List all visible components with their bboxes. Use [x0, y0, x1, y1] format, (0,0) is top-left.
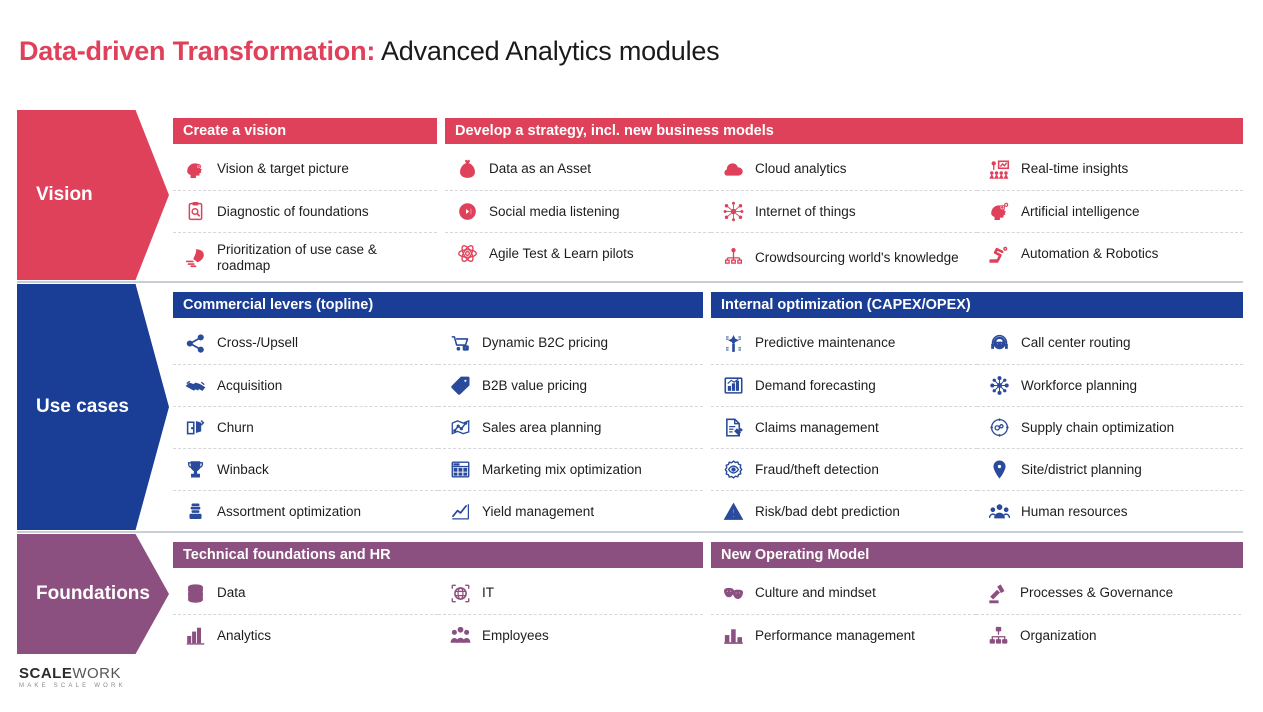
module-item-label: Performance management: [755, 628, 921, 644]
logo-name-light: WORK: [72, 665, 121, 682]
panel-column: ITEmployees: [438, 572, 703, 654]
module-item[interactable]: Analytics: [173, 614, 438, 656]
play-circle-icon: [445, 201, 489, 222]
modules-board: VisionCreate a visionVision & target pic…: [0, 110, 1263, 655]
panel-column: Real-time insightsArtificial intelligenc…: [977, 148, 1243, 280]
panel-column: Cross-/UpsellAcquisitionChurnWinbackAsso…: [173, 322, 438, 530]
band-label-text: Foundations: [36, 583, 150, 605]
svg-text:$: $: [465, 168, 469, 175]
module-item[interactable]: Crowdsourcing world's knowledge: [711, 232, 977, 282]
share-nodes-icon: [173, 333, 217, 354]
page-title-accent: Data-driven Transformation:: [19, 36, 375, 66]
module-item-label: Claims management: [755, 420, 885, 436]
performance-bars-icon: [711, 625, 755, 646]
sales-area-map-icon: [438, 417, 482, 438]
panel-column: Predictive maintenanceDemand forecasting…: [711, 322, 977, 530]
logo-name-bold: SCALE: [19, 665, 72, 682]
module-item[interactable]: Prioritization of use case & roadmap: [173, 232, 437, 282]
module-item-label: Cloud analytics: [755, 161, 853, 177]
module-item[interactable]: Processes & Governance: [976, 572, 1241, 614]
module-item-label: Assortment optimization: [217, 504, 367, 520]
panel-usecases-1: Internal optimization (CAPEX/OPEX)Predic…: [711, 284, 1243, 530]
gavel-icon: [976, 583, 1020, 604]
module-item[interactable]: Diagnostic of foundations: [173, 190, 437, 232]
panel-column: Cloud analyticsInternet of thingsCrowdso…: [711, 148, 977, 280]
module-item[interactable]: Agile Test & Learn pilots: [445, 232, 711, 274]
module-item[interactable]: Marketing mix optimization: [438, 448, 703, 490]
module-item-label: Internet of things: [755, 204, 862, 220]
module-item[interactable]: Culture and mindset: [711, 572, 976, 614]
module-item[interactable]: Real-time insights: [977, 148, 1243, 190]
module-item-label: Sales area planning: [482, 420, 607, 436]
head-gear-icon: [173, 159, 217, 180]
module-item[interactable]: Acquisition: [173, 364, 438, 406]
module-item-label: Diagnostic of foundations: [217, 204, 375, 220]
module-item-label: Real-time insights: [1021, 161, 1134, 177]
cloud-icon: [711, 159, 755, 180]
org-chart-icon: [976, 625, 1020, 646]
panel-body: Vision & target pictureDiagnostic of fou…: [173, 148, 437, 280]
atom-icon: [445, 243, 489, 264]
module-item[interactable]: $Data as an Asset: [445, 148, 711, 190]
module-item[interactable]: Supply chain optimization: [977, 406, 1243, 448]
module-item[interactable]: Sales area planning: [438, 406, 703, 448]
module-item[interactable]: B2B value pricing: [438, 364, 703, 406]
module-item-label: Dynamic B2C pricing: [482, 335, 614, 351]
predictive-maintenance-icon: [711, 333, 755, 354]
panel-heading: Develop a strategy, incl. new business m…: [445, 118, 1243, 144]
ai-head-icon: [977, 201, 1021, 222]
panel-column: Culture and mindsetPerformance managemen…: [711, 572, 976, 654]
panel-heading: Technical foundations and HR: [173, 542, 703, 568]
claims-document-icon: [711, 417, 755, 438]
module-item[interactable]: Social media listening: [445, 190, 711, 232]
band-vision: VisionCreate a visionVision & target pic…: [0, 110, 1263, 280]
module-item-label: Social media listening: [489, 204, 626, 220]
module-item[interactable]: Demand forecasting: [711, 364, 977, 406]
module-item-label: Fraud/theft detection: [755, 462, 885, 478]
module-item-label: Processes & Governance: [1020, 585, 1179, 601]
module-item[interactable]: Artificial intelligence: [977, 190, 1243, 232]
panel-foundations-1: New Operating ModelCulture and mindsetPe…: [711, 534, 1243, 654]
module-item[interactable]: Assortment optimization: [173, 490, 438, 532]
module-item[interactable]: Human resources: [977, 490, 1243, 532]
module-item-label: Churn: [217, 420, 260, 436]
module-item[interactable]: Churn: [173, 406, 438, 448]
module-item[interactable]: Employees: [438, 614, 703, 656]
module-item[interactable]: Site/district planning: [977, 448, 1243, 490]
module-item-label: Employees: [482, 628, 555, 644]
panel-column: Call center routingWorkforce planningSup…: [977, 322, 1243, 530]
module-item-label: Demand forecasting: [755, 378, 882, 394]
clipboard-search-icon: [173, 201, 217, 222]
panel-heading: Internal optimization (CAPEX/OPEX): [711, 292, 1243, 318]
band-label-foundations[interactable]: Foundations: [17, 534, 169, 654]
band-usecases: Use casesCommercial levers (topline)Cros…: [0, 284, 1263, 530]
band-label-usecases[interactable]: Use cases: [17, 284, 169, 530]
module-item-label: Acquisition: [217, 378, 288, 394]
module-item-label: Crowdsourcing world's knowledge: [755, 250, 965, 266]
logo-tagline: MAKE SCALE WORK: [19, 683, 126, 689]
panel-heading: Create a vision: [173, 118, 437, 144]
panel-body: Cross-/UpsellAcquisitionChurnWinbackAsso…: [173, 322, 703, 530]
panel-body: Culture and mindsetPerformance managemen…: [711, 572, 1243, 654]
masks-icon: [711, 583, 755, 604]
panel-column: DataAnalytics: [173, 572, 438, 654]
module-item[interactable]: Cross-/Upsell: [173, 322, 438, 364]
module-item[interactable]: Winback: [173, 448, 438, 490]
analytics-bars-icon: [173, 625, 217, 646]
shopping-cart-tag-icon: [438, 333, 482, 354]
module-item-label: B2B value pricing: [482, 378, 593, 394]
module-item-label: Winback: [217, 462, 275, 478]
module-item[interactable]: Predictive maintenance: [711, 322, 977, 364]
module-item-label: Culture and mindset: [755, 585, 882, 601]
module-item-label: Yield management: [482, 504, 600, 520]
panel-usecases-0: Commercial levers (topline)Cross-/Upsell…: [173, 284, 703, 530]
module-item[interactable]: Data: [173, 572, 438, 614]
handshake-icon: [173, 375, 217, 396]
module-item-label: Human resources: [1021, 504, 1134, 520]
module-item[interactable]: Fraud/theft detection: [711, 448, 977, 490]
brand-logo: SCALEWORK MAKE SCALE WORK: [19, 665, 126, 689]
page-title-rest: Advanced Analytics modules: [375, 36, 719, 66]
module-item[interactable]: Performance management: [711, 614, 976, 656]
panel-heading: New Operating Model: [711, 542, 1243, 568]
map-pin-icon: [977, 459, 1021, 480]
database-icon: [173, 583, 217, 604]
trophy-icon: [173, 459, 217, 480]
human-resources-icon: [977, 501, 1021, 522]
panel-vision-0: Create a visionVision & target pictureDi…: [173, 110, 437, 280]
module-item[interactable]: Dynamic B2C pricing: [438, 322, 703, 364]
panel-body: $Data as an AssetSocial media listeningA…: [445, 148, 1243, 280]
panel-body: DataAnalyticsITEmployees: [173, 572, 703, 654]
module-item[interactable]: Internet of things: [711, 190, 977, 232]
module-item-label: Cross-/Upsell: [217, 335, 304, 351]
globe-it-icon: [438, 583, 482, 604]
module-item-label: Predictive maintenance: [755, 335, 901, 351]
panel-column: Vision & target pictureDiagnostic of fou…: [173, 148, 437, 280]
employees-icon: [438, 625, 482, 646]
module-item-label: Prioritization of use case & roadmap: [217, 242, 437, 273]
module-item-label: Agile Test & Learn pilots: [489, 246, 640, 262]
module-item-label: IT: [482, 585, 500, 601]
presentation-people-icon: [977, 159, 1021, 180]
module-item-label: Analytics: [217, 628, 277, 644]
module-item-label: Workforce planning: [1021, 378, 1143, 394]
band-foundations: FoundationsTechnical foundations and HRD…: [0, 534, 1263, 654]
module-item[interactable]: Automation & Robotics: [977, 232, 1243, 274]
crowdsourcing-icon: [711, 247, 755, 268]
panel-foundations-0: Technical foundations and HRDataAnalytic…: [173, 534, 703, 654]
robot-arm-icon: [977, 243, 1021, 264]
module-item-label: Supply chain optimization: [1021, 420, 1180, 436]
module-item[interactable]: Call center routing: [977, 322, 1243, 364]
module-item[interactable]: Vision & target picture: [173, 148, 437, 190]
module-item[interactable]: Workforce planning: [977, 364, 1243, 406]
module-item-label: Vision & target picture: [217, 161, 355, 177]
iot-network-icon: [711, 201, 755, 222]
panel-vision-1: Develop a strategy, incl. new business m…: [445, 110, 1243, 280]
churn-door-icon: [173, 417, 217, 438]
band-label-text: Vision: [36, 184, 93, 206]
yield-chart-icon: [438, 501, 482, 522]
money-bag-icon: $: [445, 159, 489, 180]
module-item[interactable]: Risk/bad debt prediction: [711, 490, 977, 532]
panel-heading: Commercial levers (topline): [173, 292, 703, 318]
bar-chart-forecast-icon: [711, 375, 755, 396]
module-item-label: Organization: [1020, 628, 1103, 644]
logo-wordmark: SCALEWORK: [19, 665, 126, 682]
assortment-icon: [173, 501, 217, 522]
headset-agent-icon: [977, 333, 1021, 354]
module-item-label: Marketing mix optimization: [482, 462, 648, 478]
module-item-label: Data as an Asset: [489, 161, 597, 177]
module-item-label: Site/district planning: [1021, 462, 1148, 478]
module-item-label: Data: [217, 585, 252, 601]
module-item[interactable]: Organization: [976, 614, 1241, 656]
fraud-eye-icon: [711, 459, 755, 480]
rocket-icon: [173, 247, 217, 268]
panel-body: Predictive maintenanceDemand forecasting…: [711, 322, 1243, 530]
price-tag-icon: [438, 375, 482, 396]
marketing-mix-icon: [438, 459, 482, 480]
module-item-label: Call center routing: [1021, 335, 1137, 351]
workforce-network-icon: [977, 375, 1021, 396]
page-title: Data-driven Transformation: Advanced Ana…: [19, 36, 719, 67]
supply-chain-icon: [977, 417, 1021, 438]
panel-column: $Data as an AssetSocial media listeningA…: [445, 148, 711, 280]
risk-warning-icon: [711, 501, 755, 522]
module-item-label: Automation & Robotics: [1021, 246, 1164, 262]
module-item[interactable]: Yield management: [438, 490, 703, 532]
module-item[interactable]: Claims management: [711, 406, 977, 448]
band-label-text: Use cases: [36, 396, 129, 418]
band-label-vision[interactable]: Vision: [17, 110, 169, 280]
panel-column: Processes & GovernanceOrganization: [976, 572, 1241, 654]
module-item-label: Risk/bad debt prediction: [755, 504, 906, 520]
module-item[interactable]: IT: [438, 572, 703, 614]
module-item[interactable]: Cloud analytics: [711, 148, 977, 190]
module-item-label: Artificial intelligence: [1021, 204, 1146, 220]
panel-column: Dynamic B2C pricingB2B value pricingSale…: [438, 322, 703, 530]
